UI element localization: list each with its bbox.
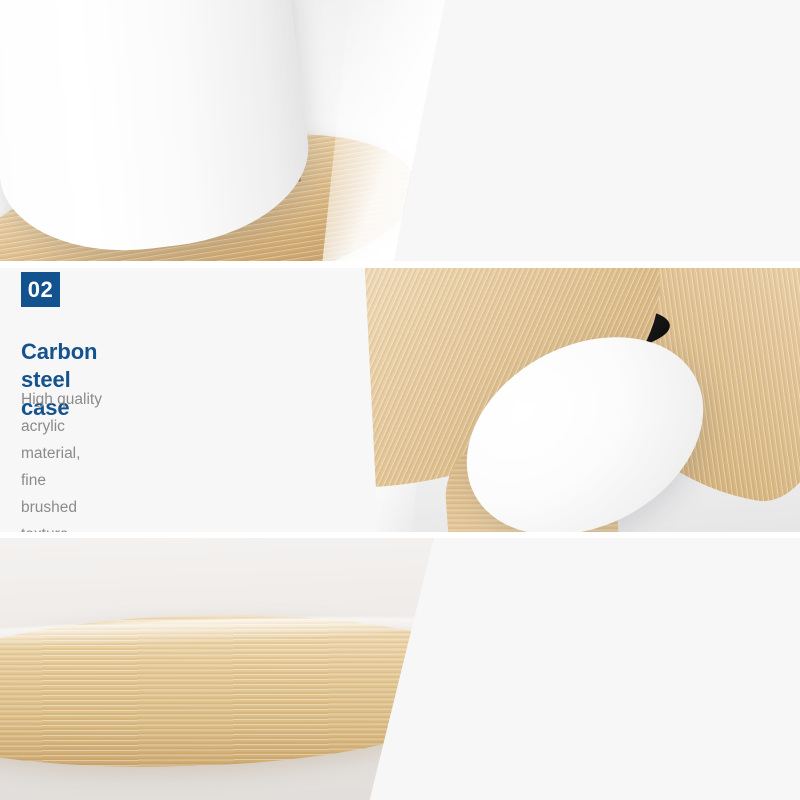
feature-section-3: 03 High quality ABS fan blade High quali… [0, 538, 800, 800]
abs-fan-blade-photo [0, 538, 440, 800]
photo-3-scene [0, 538, 440, 800]
carbon-steel-case-photo [355, 268, 800, 532]
product-feature-infographic: 01 Lacquered metal shell Selection of hi… [0, 0, 800, 800]
section-divider-1 [0, 261, 800, 268]
photo-1-scene [0, 0, 445, 261]
section-body-2: High quality acrylic material, fine brus… [21, 386, 103, 532]
photo-2-scene [355, 268, 800, 532]
section-number-badge-2: 02 [21, 272, 60, 307]
lacquered-metal-shell-photo [0, 0, 445, 261]
feature-section-1: 01 Lacquered metal shell Selection of hi… [0, 0, 800, 261]
feature-section-2: 02 Carbon steel case High quality acryli… [0, 268, 800, 532]
